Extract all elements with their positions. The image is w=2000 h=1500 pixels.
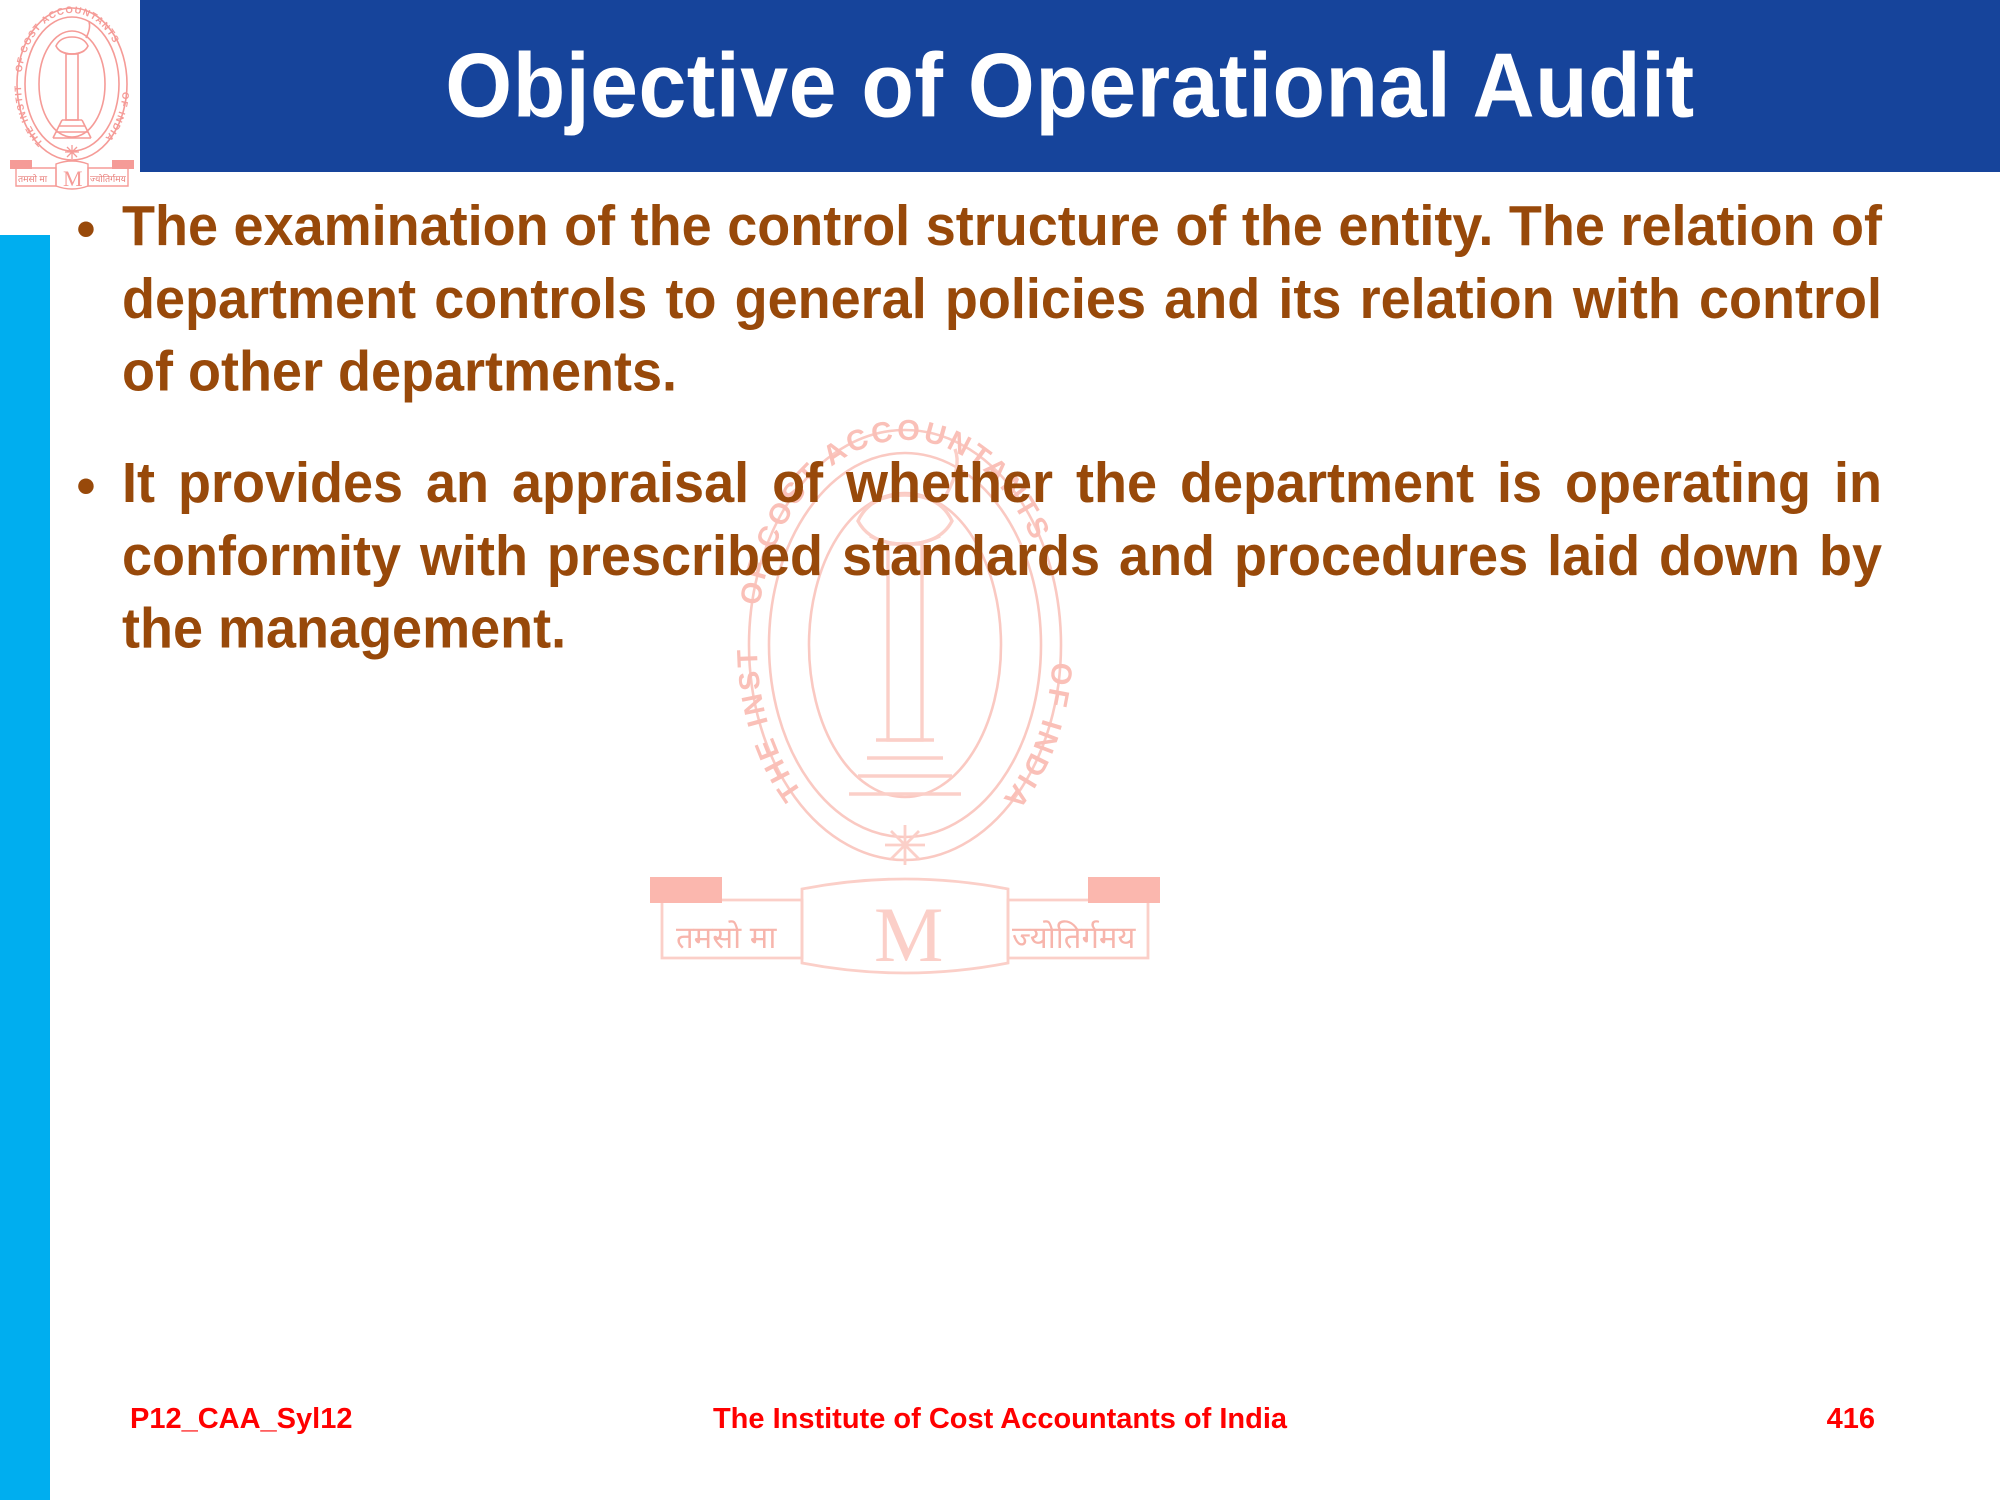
page-title: Objective of Operational Audit (445, 40, 1694, 131)
institute-logo-icon: OF COST ACCOUNTANTS OF INDIA THE INSTITU… (4, 2, 140, 190)
bullet-marker-icon: • (50, 447, 122, 521)
svg-text:M: M (63, 166, 83, 190)
bullet-text: The examination of the control structure… (122, 190, 2000, 409)
svg-text:OF COST ACCOUNTANTS: OF COST ACCOUNTANTS (14, 5, 122, 73)
svg-text:ज्योतिर्गमय: ज्योतिर्गमय (90, 173, 127, 184)
left-accent-bar (0, 235, 50, 1500)
bullet-marker-icon: • (50, 190, 122, 264)
svg-text:तमसो मा: तमसो मा (18, 173, 48, 184)
slide-footer: P12_CAA_Syl12 The Institute of Cost Acco… (0, 1395, 2000, 1455)
footer-organisation: The Institute of Cost Accountants of Ind… (0, 1403, 2000, 1436)
title-banner: Objective of Operational Audit (140, 0, 2000, 172)
slide-body: • The examination of the control structu… (50, 190, 2000, 1370)
slide: OF COST ACCOUNTANTS OF INDIA THE INSTITU… (0, 0, 2000, 1500)
bullet-text: It provides an appraisal of whether the … (122, 447, 2000, 666)
list-item: • The examination of the control structu… (50, 190, 2000, 401)
list-item: • It provides an appraisal of whether th… (50, 447, 2000, 658)
footer-page-number: 416 (1827, 1403, 1875, 1436)
